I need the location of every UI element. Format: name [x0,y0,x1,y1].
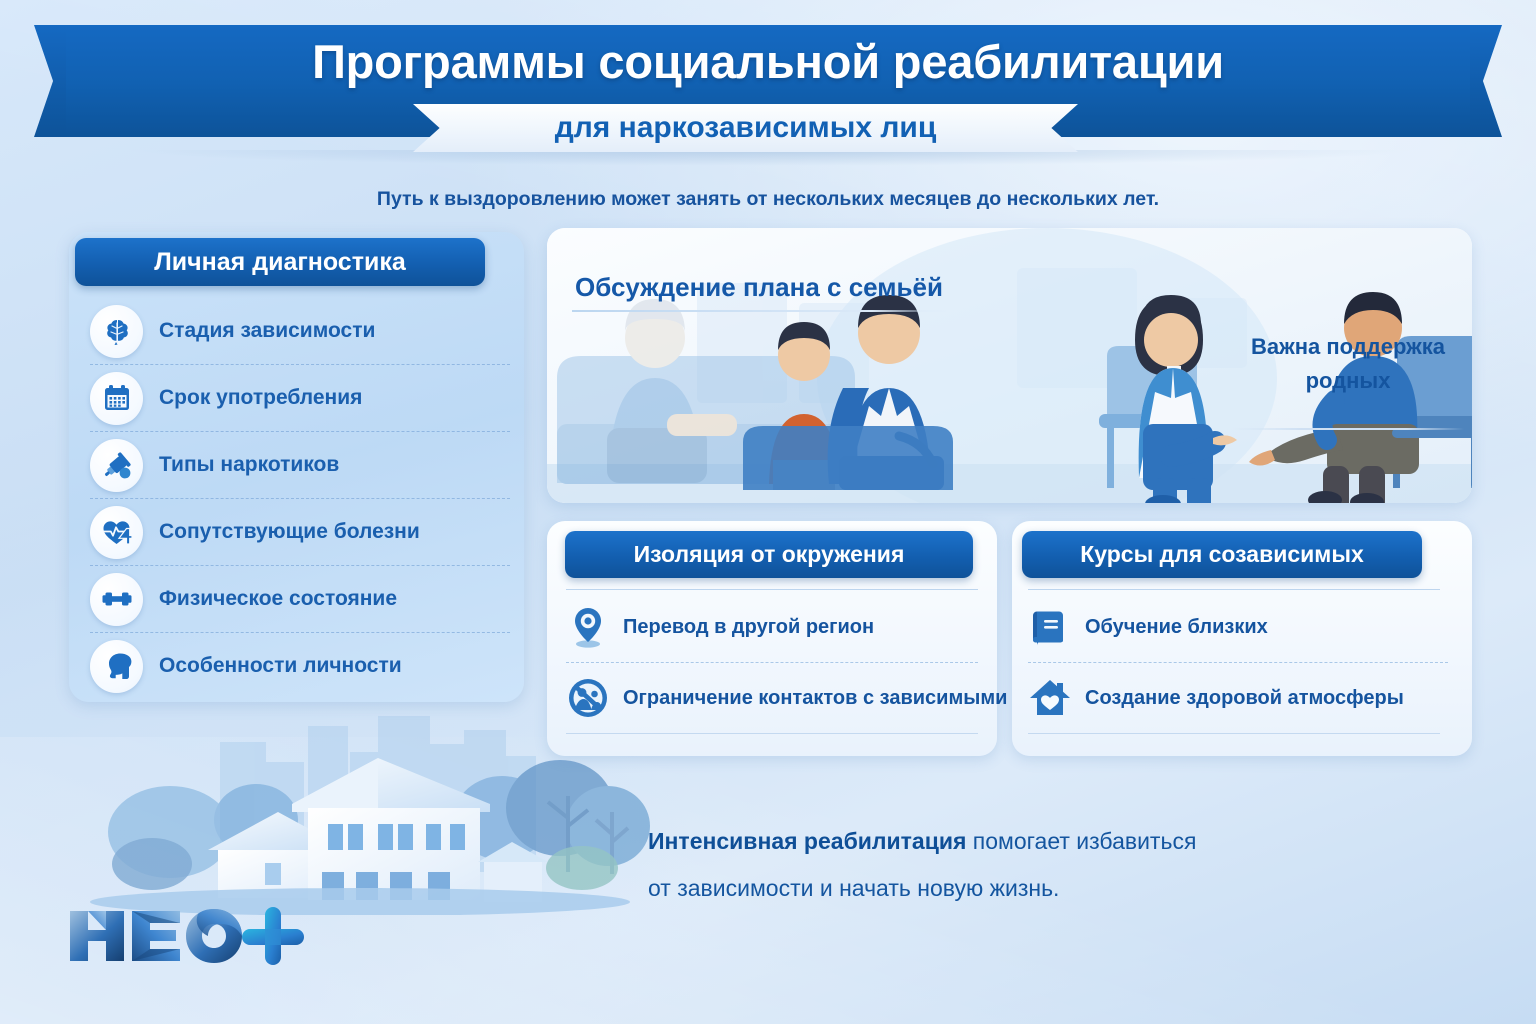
list-item-label: Типы наркотиков [159,453,339,477]
footer-text: Интенсивная реабилитация помогает избави… [648,818,1328,912]
brain-icon [90,305,143,358]
list-item[interactable]: Типы наркотиков [90,431,510,498]
list-item[interactable]: Срок употребления [90,364,510,431]
scene-title-rule [572,310,947,312]
isolation-divider-bottom [566,733,978,734]
neo-plus-logo[interactable] [66,905,306,967]
isolation-card-header: Изоляция от окружения [565,531,973,578]
diagnostics-panel-header: Личная диагностика [75,238,485,286]
list-item[interactable]: Обучение близких [1028,592,1448,662]
list-item[interactable]: Физическое состояние [90,565,510,632]
scene-card-title: Обсуждение плана с семьёй [575,272,943,303]
list-item[interactable]: Создание здоровой атмосферы [1028,662,1448,733]
list-item-label: Срок употребления [159,386,362,410]
scene-side-rule [1232,428,1464,430]
list-item-label: Физическое состояние [159,587,397,611]
intro-text: Путь к выздоровлению может занять от нес… [0,188,1536,211]
isolation-list: Перевод в другой регион Ограничение конт… [566,592,978,733]
scene-side-note: Важна поддержка родных [1228,330,1468,398]
list-item-label: Ограничение контактов с зависимыми [623,687,1007,710]
calendar-icon [90,372,143,425]
courses-divider-bottom [1028,733,1440,734]
book-icon [1028,605,1072,649]
list-item[interactable]: Перевод в другой регион [566,592,978,662]
isolation-divider-top [566,589,978,590]
diagnostics-list: Стадия зависимости [90,298,510,699]
list-item[interactable]: Ограничение контактов с зависимыми [566,662,978,733]
list-item-label: Создание здоровой атмосферы [1085,687,1404,710]
list-item-label: Стадия зависимости [159,319,375,343]
footer-text-strong: Интенсивная реабилитация [648,828,966,854]
syringe-icon [90,439,143,492]
page-subtitle: для наркозависимых лиц [413,104,1078,152]
list-item-label: Сопутствующие болезни [159,520,420,544]
house-heart-icon [1028,676,1072,720]
list-item-label: Обучение близких [1085,616,1268,639]
list-item-label: Особенности личности [159,654,402,678]
list-item[interactable]: Стадия зависимости [90,298,510,364]
footer-text-line2: от зависимости и начать новую жизнь. [648,875,1059,901]
header-shadow [120,150,1420,166]
footer-text-rest: помогает избавиться [966,828,1196,854]
list-item-label: Перевод в другой регион [623,616,874,639]
infographic-poster: Программы социальной реабилитации для на… [0,0,1536,1024]
list-item[interactable]: Сопутствующие болезни [90,498,510,565]
head-profile-icon [90,640,143,693]
list-item[interactable]: Особенности личности [90,632,510,699]
no-contact-icon [566,676,610,720]
page-title: Программы социальной реабилитации [0,34,1536,89]
dumbbell-icon [90,573,143,626]
courses-divider-top [1028,589,1440,590]
heart-medical-icon [90,506,143,559]
courses-card-header: Курсы для созависимых [1022,531,1422,578]
location-pin-icon [566,605,610,649]
courses-list: Обучение близких Создание здоровой атмос… [1028,592,1448,733]
